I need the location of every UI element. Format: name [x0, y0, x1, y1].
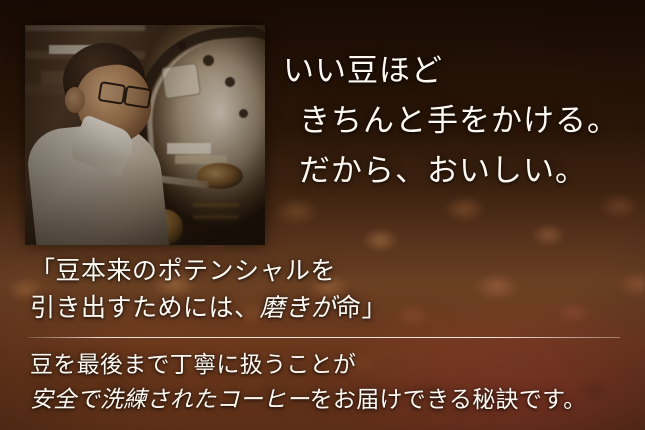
- quote-highlight: 磨きが: [260, 289, 337, 326]
- headline-line-3: だから、おいしい。: [283, 146, 633, 196]
- footer-statement: 豆を最後まで丁寧に扱うことが 安全で洗練されたコーヒーをお届けできる秘訣です。: [30, 348, 640, 418]
- quote-line-2-pre: 引き出すためには、: [30, 293, 260, 322]
- pull-quote: 「豆本来のポテンシャルを 引き出すためには、磨きが命」: [30, 252, 630, 326]
- footer-line-2-post: をお届けできる秘訣です。: [310, 387, 587, 413]
- quote-line-1: 「豆本来のポテンシャルを: [30, 252, 630, 289]
- roaster-photo-scene: [25, 25, 265, 245]
- section-divider: [28, 337, 620, 338]
- footer-line-1: 豆を最後まで丁寧に扱うことが: [30, 348, 640, 383]
- quote-line-2: 引き出すためには、磨きが命」: [30, 289, 630, 326]
- quote-highlight-text: 磨きが: [260, 293, 337, 322]
- quote-line-2-post: 命」: [336, 293, 387, 322]
- footer-highlight-text: 安全で洗練されたコーヒー: [30, 387, 310, 413]
- coffee-brand-banner: いい豆ほど きちんと手をかける。 だから、おいしい。 「豆本来のポテンシャルを …: [0, 0, 645, 430]
- headline-line-2: きちんと手をかける。: [283, 96, 633, 146]
- headline: いい豆ほど きちんと手をかける。 だから、おいしい。: [283, 46, 633, 196]
- footer-line-2: 安全で洗練されたコーヒーをお届けできる秘訣です。: [30, 383, 640, 418]
- headline-line-1: いい豆ほど: [283, 53, 443, 89]
- footer-highlight: 安全で洗練されたコーヒー: [30, 383, 310, 418]
- photo-color-grade: [25, 25, 265, 245]
- roaster-photo: [25, 25, 265, 245]
- quote-line-1-text: 豆本来のポテンシャルを: [56, 256, 337, 285]
- quote-open-bracket: 「: [30, 256, 56, 285]
